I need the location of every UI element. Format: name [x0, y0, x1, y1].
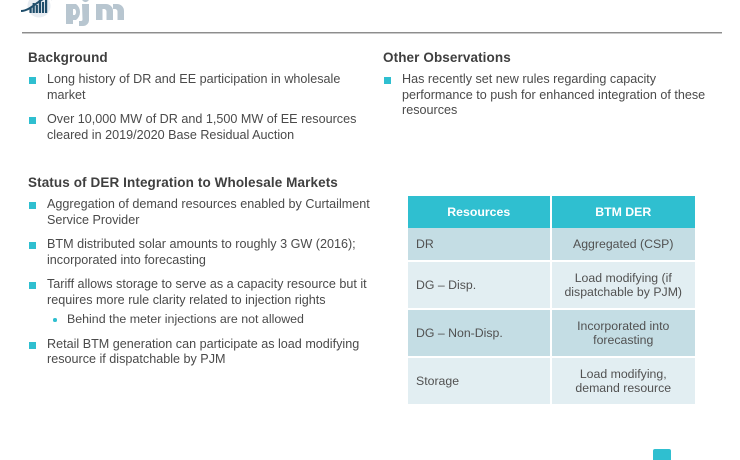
cell-resource: Storage: [408, 358, 552, 406]
cell-btm-der: Load modifying (if dispatchable by PJM): [552, 262, 696, 310]
cell-resource: DG – Disp.: [408, 262, 552, 310]
status-block: Status of DER Integration to Wholesale M…: [28, 175, 378, 368]
pjm-logo: [18, 0, 124, 28]
cell-resource: DR: [408, 228, 552, 262]
cell-btm-der: Aggregated (CSP): [552, 228, 696, 262]
column-header-resources: Resources: [408, 196, 552, 228]
list-item: Tariff allows storage to serve as a capa…: [28, 277, 378, 328]
list-item: Aggregation of demand resources enabled …: [28, 197, 378, 228]
table-header-row: Resources BTM DER: [408, 196, 695, 228]
list-item: Behind the meter injections are not allo…: [47, 312, 378, 328]
right-column: Other Observations Has recently set new …: [383, 50, 713, 128]
left-column: Background Long history of DR and EE par…: [28, 50, 378, 377]
table-row: DG – Non-Disp. Incorporated into forecas…: [408, 310, 695, 358]
column-header-btm-der: BTM DER: [552, 196, 696, 228]
cell-btm-der: Load modifying, demand resource: [552, 358, 696, 406]
cell-btm-der: Incorporated into forecasting: [552, 310, 696, 358]
table-header: Resources BTM DER: [408, 196, 695, 228]
slide-header: [0, 0, 740, 36]
status-subbullet-list: Behind the meter injections are not allo…: [47, 312, 378, 328]
list-item: BTM distributed solar amounts to roughly…: [28, 237, 378, 268]
table-row: DG – Disp. Load modifying (if dispatchab…: [408, 262, 695, 310]
header-divider: [22, 32, 722, 34]
observations-title: Other Observations: [383, 50, 713, 65]
list-item: Has recently set new rules regarding cap…: [383, 72, 713, 119]
status-bullet-list: Aggregation of demand resources enabled …: [28, 197, 378, 368]
background-title: Background: [28, 50, 378, 65]
footer-accent-mark: [653, 449, 671, 460]
pjm-logo-icon: [18, 0, 124, 28]
cell-resource: DG – Non-Disp.: [408, 310, 552, 358]
table-row: DR Aggregated (CSP): [408, 228, 695, 262]
background-block: Background Long history of DR and EE par…: [28, 50, 378, 143]
observations-bullet-list: Has recently set new rules regarding cap…: [383, 72, 713, 119]
list-item-text: Tariff allows storage to serve as a capa…: [47, 277, 367, 307]
table-body: DR Aggregated (CSP) DG – Disp. Load modi…: [408, 228, 695, 406]
list-item: Over 10,000 MW of DR and 1,500 MW of EE …: [28, 112, 378, 143]
table-row: Storage Load modifying, demand resource: [408, 358, 695, 406]
background-bullet-list: Long history of DR and EE participation …: [28, 72, 378, 143]
list-item: Retail BTM generation can participate as…: [28, 337, 378, 368]
status-title: Status of DER Integration to Wholesale M…: [28, 175, 378, 190]
list-item: Long history of DR and EE participation …: [28, 72, 378, 103]
der-table: Resources BTM DER DR Aggregated (CSP) DG…: [408, 196, 695, 406]
